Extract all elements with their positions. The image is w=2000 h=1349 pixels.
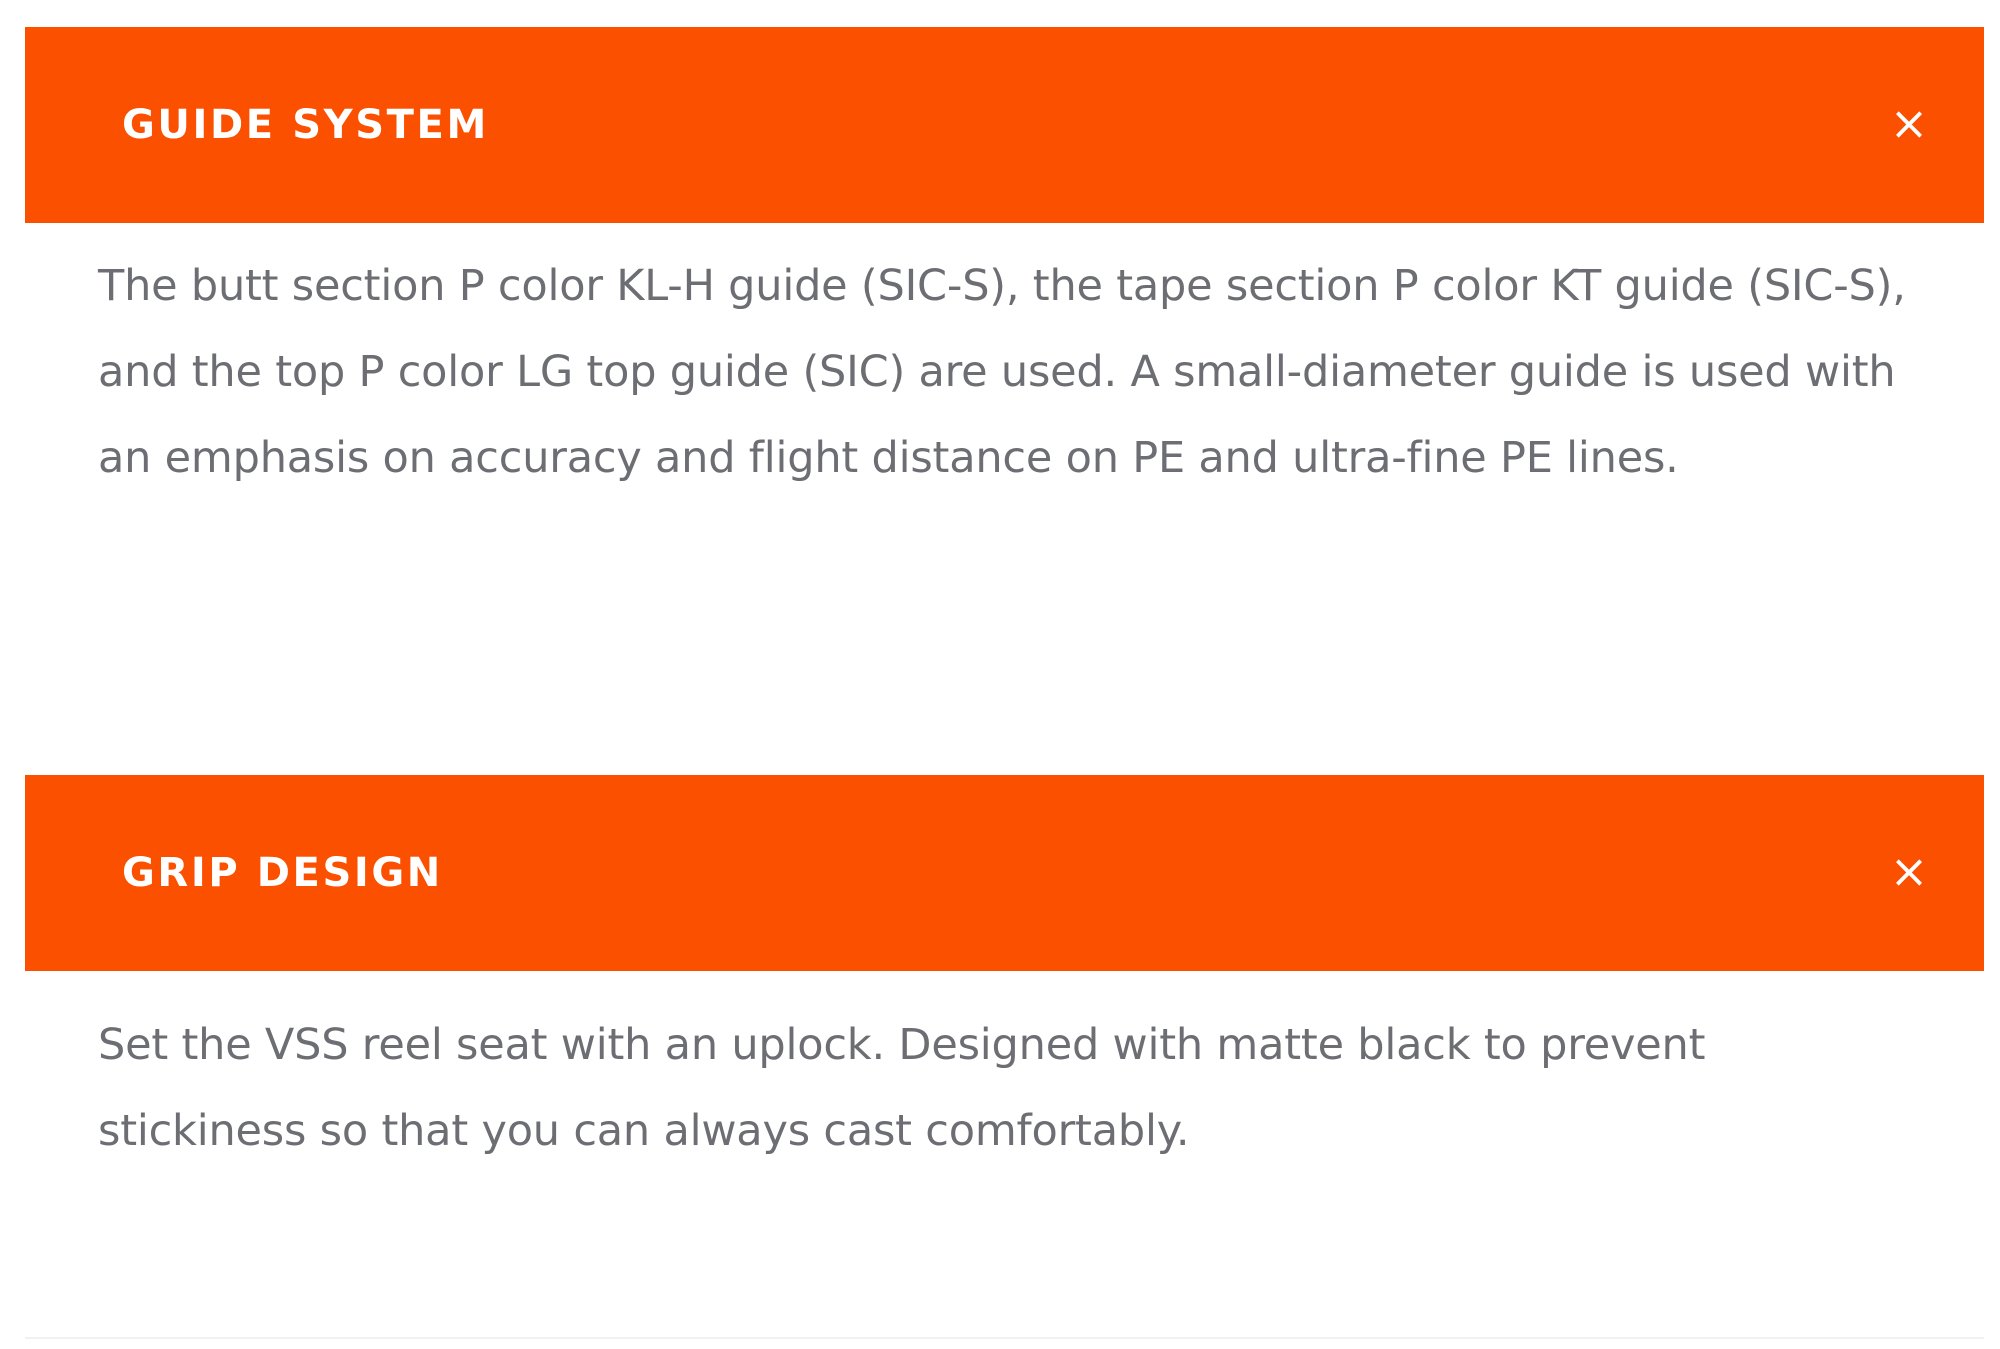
accordion-header-guide-system[interactable]: GUIDE SYSTEM × [25, 27, 1984, 223]
accordion-header-grip-design[interactable]: GRIP DESIGN × [25, 775, 1984, 971]
close-icon[interactable]: × [1879, 775, 1939, 971]
accordion: GUIDE SYSTEM × The butt section P color … [0, 0, 2000, 1349]
accordion-title-grip-design: GRIP DESIGN [122, 775, 443, 971]
accordion-content-grip-design: Set the VSS reel seat with an uplock. De… [98, 1002, 1908, 1174]
close-icon[interactable]: × [1879, 27, 1939, 223]
accordion-body-text-grip-design: Set the VSS reel seat with an uplock. De… [98, 1002, 1908, 1174]
accordion-title-guide-system: GUIDE SYSTEM [122, 27, 489, 223]
accordion-content-guide-system: The butt section P color KL-H guide (SIC… [98, 243, 1908, 501]
accordion-body-text-guide-system: The butt section P color KL-H guide (SIC… [98, 243, 1908, 501]
section-divider [25, 1337, 1984, 1339]
